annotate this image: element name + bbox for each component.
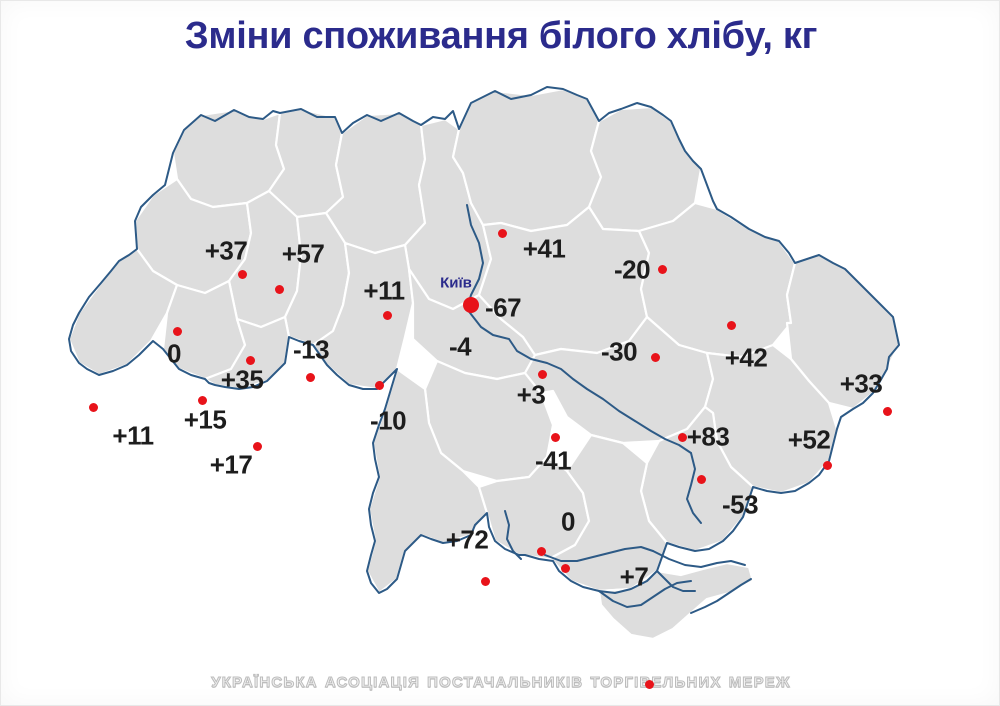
region-value-ternopil: +35 bbox=[221, 365, 264, 396]
region-dot-khmelnytskyi[interactable] bbox=[306, 373, 315, 382]
region-value-luhansk: +33 bbox=[840, 369, 883, 400]
map-infographic: Зміни споживання білого хлібу, кг bbox=[0, 0, 1000, 706]
region-value-rivne: +57 bbox=[282, 239, 325, 270]
region-dot-zakarpattia[interactable] bbox=[89, 403, 98, 412]
region-dot-vinnytsia[interactable] bbox=[375, 381, 384, 390]
region-value-zhytomyr: +11 bbox=[363, 276, 404, 307]
region-dot-mykolaiv[interactable] bbox=[537, 547, 546, 556]
region-value-dnipropetrovsk: +83 bbox=[687, 422, 730, 453]
capital-label-kyiv: Київ bbox=[440, 275, 472, 292]
region-dot-dnipropetrovsk[interactable] bbox=[678, 433, 687, 442]
region-dot-zhytomyr[interactable] bbox=[383, 311, 392, 320]
region-value-vinnytsia: -10 bbox=[370, 406, 406, 437]
region-value-odesa: +72 bbox=[446, 525, 489, 556]
region-dot-poltava[interactable] bbox=[651, 353, 660, 362]
region-value-donetsk: +52 bbox=[788, 425, 831, 456]
region-dot-chernihiv[interactable] bbox=[498, 229, 507, 238]
region-value-lviv: 0 bbox=[167, 339, 181, 370]
region-value-mykolaiv: 0 bbox=[561, 507, 575, 538]
ukraine-map-svg bbox=[1, 73, 1000, 653]
region-dot-lviv[interactable] bbox=[173, 327, 182, 336]
region-value-kyivska: -4 bbox=[449, 332, 471, 363]
region-dot-ternopil[interactable] bbox=[246, 356, 255, 365]
region-value-cherkasy: +3 bbox=[517, 380, 546, 411]
region-dot-kirovohrad[interactable] bbox=[551, 433, 560, 442]
region-value-khmelnytskyi: -13 bbox=[293, 335, 329, 366]
region-dot-volyn[interactable] bbox=[238, 270, 247, 279]
region-value-sumy: -20 bbox=[614, 255, 650, 286]
region-value-kherson: +7 bbox=[620, 562, 649, 593]
ukraine-map bbox=[1, 73, 1000, 653]
page-title: Зміни споживання білого хлібу, кг bbox=[1, 15, 1000, 58]
region-dot-crimea[interactable] bbox=[645, 680, 654, 689]
region-dot-luhansk[interactable] bbox=[883, 407, 892, 416]
region-dot-ivano-frankivsk[interactable] bbox=[198, 396, 207, 405]
region-value-volyn: +37 bbox=[205, 236, 248, 267]
region-dot-rivne[interactable] bbox=[275, 285, 284, 294]
region-dot-sumy[interactable] bbox=[658, 265, 667, 274]
region-dot-donetsk[interactable] bbox=[823, 461, 832, 470]
capital-value-kyiv: -67 bbox=[485, 293, 521, 324]
region-zhytomyr[interactable] bbox=[326, 113, 425, 253]
region-dot-odesa[interactable] bbox=[481, 577, 490, 586]
region-value-kirovohrad: -41 bbox=[535, 446, 571, 477]
region-value-zakarpattia: +11 bbox=[112, 421, 153, 452]
region-value-zaporizhzhia: -53 bbox=[722, 490, 758, 521]
region-value-poltava: -30 bbox=[601, 337, 637, 368]
region-dot-chernivtsi[interactable] bbox=[253, 442, 262, 451]
capital-dot-kyiv[interactable] bbox=[463, 297, 479, 313]
region-value-kharkiv: +42 bbox=[725, 343, 768, 374]
region-dot-kharkiv[interactable] bbox=[727, 321, 736, 330]
region-value-ivano-frankivsk: +15 bbox=[184, 405, 227, 436]
region-dot-kherson[interactable] bbox=[561, 564, 570, 573]
region-value-chernihiv: +41 bbox=[523, 234, 566, 265]
footer-watermark: українська асоціація постачальників торг… bbox=[1, 669, 1000, 693]
region-value-chernivtsi: +17 bbox=[210, 450, 253, 481]
region-chernihiv[interactable] bbox=[453, 89, 601, 231]
oblast-shapes bbox=[69, 89, 899, 639]
region-dot-zaporizhzhia[interactable] bbox=[697, 475, 706, 484]
region-dot-cherkasy[interactable] bbox=[538, 370, 547, 379]
